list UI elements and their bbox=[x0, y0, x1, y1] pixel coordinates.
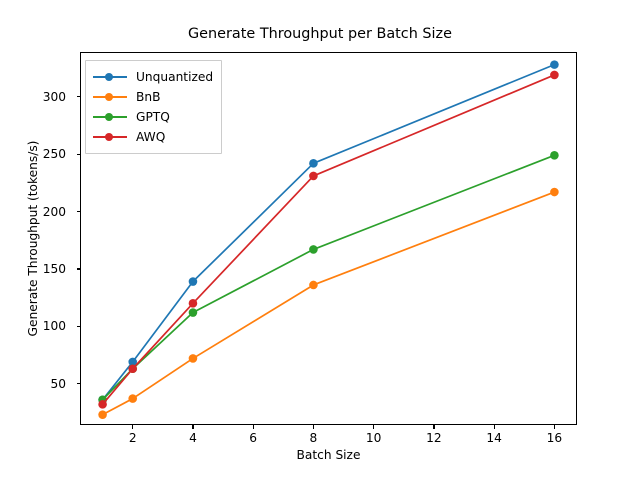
y-tick-label: 150 bbox=[43, 262, 66, 276]
x-tick-label: 10 bbox=[366, 431, 382, 445]
data-point-marker bbox=[550, 60, 559, 69]
data-point-marker bbox=[309, 172, 318, 181]
x-tick-label: 14 bbox=[486, 431, 502, 445]
x-tick-mark bbox=[433, 425, 434, 429]
data-point-marker bbox=[189, 308, 198, 317]
x-tick-label: 16 bbox=[547, 431, 563, 445]
x-tick-mark bbox=[554, 425, 555, 429]
data-point-marker bbox=[189, 277, 198, 286]
data-point-marker bbox=[128, 394, 137, 403]
data-point-marker bbox=[98, 400, 107, 409]
data-point-marker bbox=[98, 410, 107, 419]
data-point-marker bbox=[550, 151, 559, 160]
y-tick-label: 100 bbox=[43, 319, 66, 333]
y-tick-label: 300 bbox=[43, 90, 66, 104]
data-point-marker bbox=[309, 159, 318, 168]
data-point-marker bbox=[550, 188, 559, 197]
x-tick-mark bbox=[192, 425, 193, 429]
chart-figure: Generate Throughput per Batch Size Gener… bbox=[0, 0, 640, 480]
x-tick-label: 8 bbox=[310, 431, 318, 445]
x-tick-label: 12 bbox=[426, 431, 442, 445]
y-tick-label: 50 bbox=[50, 377, 66, 391]
data-point-marker bbox=[550, 71, 559, 80]
data-point-marker bbox=[128, 364, 137, 373]
legend-item-unquantized: Unquantized bbox=[93, 67, 213, 87]
legend-marker-icon bbox=[93, 111, 127, 123]
data-point-marker bbox=[189, 354, 198, 363]
x-tick-label: 2 bbox=[129, 431, 137, 445]
x-tick-mark bbox=[373, 425, 374, 429]
y-axis-label: Generate Throughput (tokens/s) bbox=[26, 52, 40, 425]
x-tick-label: 4 bbox=[189, 431, 197, 445]
data-point-marker bbox=[309, 245, 318, 254]
data-point-marker bbox=[189, 299, 198, 308]
legend-item-gptq: GPTQ bbox=[93, 107, 213, 127]
legend-item-bnb: BnB bbox=[93, 87, 213, 107]
x-tick-mark bbox=[253, 425, 254, 429]
legend-marker-icon bbox=[93, 71, 127, 83]
legend-marker-icon bbox=[93, 91, 127, 103]
x-tick-label: 6 bbox=[249, 431, 257, 445]
legend-label: GPTQ bbox=[136, 110, 170, 124]
legend-label: Unquantized bbox=[136, 70, 213, 84]
legend-label: AWQ bbox=[136, 130, 165, 144]
legend-marker-icon bbox=[93, 131, 127, 143]
x-axis-label: Batch Size bbox=[80, 448, 577, 462]
data-point-marker bbox=[309, 281, 318, 290]
y-tick-label: 200 bbox=[43, 205, 66, 219]
x-tick-mark bbox=[494, 425, 495, 429]
chart-legend: UnquantizedBnBGPTQAWQ bbox=[85, 60, 222, 154]
chart-title: Generate Throughput per Batch Size bbox=[0, 26, 640, 42]
legend-item-awq: AWQ bbox=[93, 127, 213, 147]
y-tick-label: 250 bbox=[43, 147, 66, 161]
series-line-bnb bbox=[103, 192, 555, 415]
series-line-gptq bbox=[103, 155, 555, 399]
legend-label: BnB bbox=[136, 90, 160, 104]
x-tick-mark bbox=[132, 425, 133, 429]
x-tick-mark bbox=[313, 425, 314, 429]
